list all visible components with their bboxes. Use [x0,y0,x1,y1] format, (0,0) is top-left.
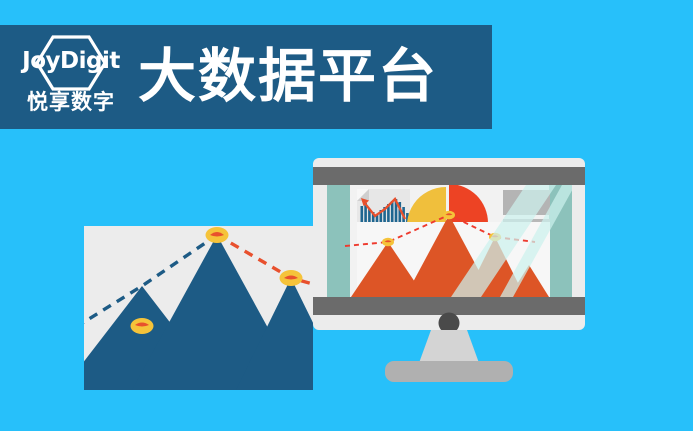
mountain-line-chart-panel [84,226,313,390]
banner-canvas: JoyDigit 悦享数字 大数据平台 [0,0,693,431]
logo-subtitle: 悦享数字 [16,90,126,116]
mountain-shapes [84,235,313,390]
brand-logo: JoyDigit 悦享数字 [16,34,126,122]
header-banner: JoyDigit 悦享数字 大数据平台 [0,25,492,129]
screen-left-strip [327,185,350,297]
monitor-base [385,361,513,382]
desktop-monitor [313,158,585,390]
page-title: 大数据平台 [138,41,438,113]
logo-wordmark: JoyDigit [16,48,126,74]
left-panel-chart [84,226,313,390]
monitor-bottom-band [313,297,585,315]
monitor-top-band [313,167,585,185]
monitor-stand [419,330,479,363]
